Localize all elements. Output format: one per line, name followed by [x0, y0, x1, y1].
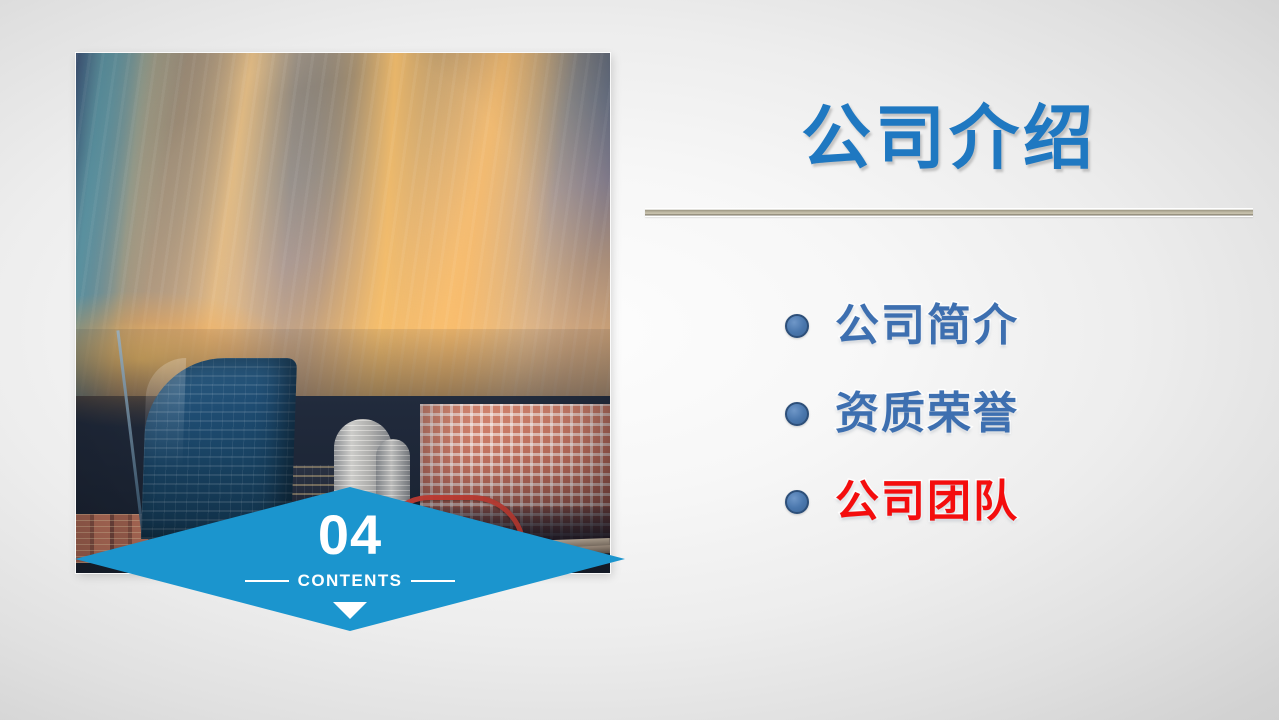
agenda-list: 公司简介 资质荣誉 公司团队 [645, 282, 1253, 546]
list-item[interactable]: 公司简介 [645, 282, 1253, 370]
list-item-label: 公司团队 [835, 480, 1019, 524]
list-item[interactable]: 公司团队 [645, 458, 1253, 546]
page-title: 公司介绍 [645, 82, 1253, 183]
presentation-slide: 04 CONTENTS 公司介绍 公司简介 资质荣誉 公司团队 [0, 0, 1279, 720]
bullet-dot-icon [785, 314, 809, 338]
bullet-dot-icon [785, 402, 809, 426]
list-item-label: 资质荣誉 [835, 392, 1019, 436]
title-divider [645, 208, 1253, 217]
list-item-label: 公司简介 [835, 304, 1019, 348]
list-item[interactable]: 资质荣誉 [645, 370, 1253, 458]
bullet-dot-icon [785, 490, 809, 514]
